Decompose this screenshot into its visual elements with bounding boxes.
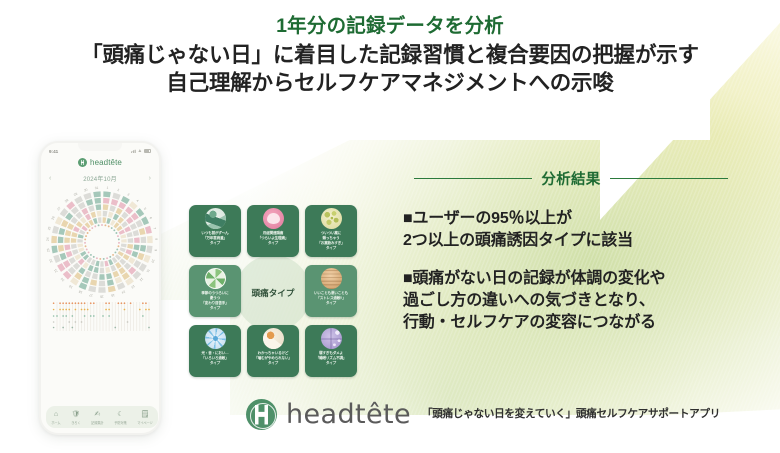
app-name-label: headtête (90, 158, 122, 167)
tab-record-label: きろく (71, 420, 80, 425)
divider-left (414, 178, 532, 180)
slide-header: 1年分の記録データを分析 「頭痛じゃない日」に着目した記録習慣と複合要因の把握が… (0, 0, 780, 98)
journal-icon: 🗒 (140, 411, 149, 419)
type-tile-medicine-overuse[interactable]: ついつい薬に 頼っちゃう 「お薬飲みすぎ」 タイプ (305, 205, 357, 257)
svg-text:3: 3 (127, 192, 131, 196)
svg-text:7: 7 (153, 227, 157, 230)
record-icon: 🛡 (71, 411, 80, 419)
menstrual-icon (263, 208, 284, 229)
svg-text:11: 11 (145, 268, 150, 273)
neck-shoulder-icon (205, 208, 226, 229)
brand-name-label: headtête (286, 399, 411, 430)
headtete-logo-icon (246, 399, 277, 430)
type-tile-label: ついつい薬に 頼っちゃう 「お薬飲みすぎ」 タイプ (316, 231, 346, 251)
tab-home[interactable]: ⌂ ホーム (51, 411, 60, 425)
phone-mockup: 9:41 ▲ headtête ‹ 2024年10月 › 12345678910… (39, 141, 161, 435)
header-line-3: 自己理解からセルフケアマネジメントへの示唆 (0, 69, 780, 97)
type-tile-label: いつも首がず～ん 「万年首肩重」 タイプ (200, 231, 230, 246)
svg-text:23: 23 (46, 248, 50, 252)
headache-type-center-label: 頭痛タイプ (235, 255, 311, 331)
header-line-2: 「頭痛じゃない日」に着目した記録習慣と複合要因の把握が示す (0, 41, 780, 69)
svg-text:5: 5 (143, 207, 147, 211)
svg-text:26: 26 (51, 215, 56, 220)
svg-text:19: 19 (68, 284, 73, 289)
headache-type-grid: 頭痛タイプ いつも首がず～ん 「万年首肩重」 タイプ 月経関連頭痛 「つらいよ生… (189, 205, 357, 381)
brand-tagline: 「頭痛じゃない日を変えていく」頭痛セルフケアサポートアプリ (422, 406, 720, 423)
svg-text:17: 17 (89, 293, 94, 298)
light-sound-smell-icon (205, 328, 226, 349)
wifi-icon: ▲ (137, 149, 142, 153)
tab-prevention-label: 予防対策 (114, 420, 126, 425)
svg-text:30: 30 (83, 188, 88, 193)
home-icon: ⌂ (54, 411, 58, 419)
analysis-icon: ✍ (94, 411, 100, 419)
type-tile-label: いいことも悪いことも 「ストレス過敏!!」 タイプ (313, 291, 350, 306)
svg-text:13: 13 (130, 284, 135, 289)
header-eyebrow: 1年分の記録データを分析 (0, 0, 780, 38)
svg-text:4: 4 (135, 199, 139, 203)
svg-text:24: 24 (46, 237, 50, 241)
svg-text:31: 31 (95, 186, 99, 190)
tab-home-label: ホーム (51, 420, 60, 425)
svg-text:14: 14 (121, 289, 126, 294)
type-tile-label: 光・音・におい… 「いろいろ過敏」 タイプ (200, 351, 230, 366)
analysis-panel-title: 分析結果 (541, 168, 600, 189)
tab-mypage-label: マイページ (137, 420, 152, 425)
svg-text:29: 29 (73, 192, 78, 197)
type-tile-label: 寝すぎもダメよ 「睡眠リズム不調」 タイプ (314, 351, 348, 366)
type-tile-sensory[interactable]: 光・音・におい… 「いろいろ過敏」 タイプ (189, 325, 241, 377)
circular-calendar-svg: 1234567891011121314151617181920212223242… (46, 186, 158, 298)
type-tile-menstrual[interactable]: 月経関連頭痛 「つらいよ生理痛」 タイプ (247, 205, 299, 257)
type-tile-sleep-rhythm[interactable]: 寝すぎもダメよ 「睡眠リズム不調」 タイプ (305, 325, 357, 377)
divider-right (610, 178, 728, 180)
analysis-bullet-list: ■ユーザーの95％以上が 2つ以上の頭痛誘因タイプに該当 ■頭痛がない日の記録が… (372, 208, 776, 334)
svg-text:28: 28 (64, 198, 69, 203)
svg-text:21: 21 (53, 268, 58, 273)
analysis-results-panel: 分析結果 ■ユーザーの95％以上が 2つ以上の頭痛誘因タイプに該当 ■頭痛がない… (372, 168, 776, 334)
svg-text:20: 20 (60, 277, 65, 282)
svg-text:15: 15 (111, 293, 116, 298)
analysis-panel-header: 分析結果 (366, 168, 776, 189)
daily-dot-chart[interactable] (52, 300, 152, 336)
type-tile-neck-shoulder[interactable]: いつも首がず～ん 「万年首肩重」 タイプ (189, 205, 241, 257)
moon-icon: ☾ (117, 411, 123, 419)
tab-record[interactable]: 🛡 きろく (71, 411, 80, 425)
app-header: headtête (41, 158, 159, 167)
tab-prevention[interactable]: ☾ 予防対策 (114, 411, 126, 425)
tab-analysis[interactable]: ✍ 記録集計 (91, 411, 103, 425)
signal-icon (131, 149, 136, 153)
battery-icon (144, 149, 151, 153)
analysis-bullet: ■頭痛がない日の記録が体調の変化や 過ごし方の違いへの気づきとなり、 行動・セル… (403, 268, 776, 334)
svg-text:27: 27 (56, 206, 61, 211)
svg-text:8: 8 (154, 238, 158, 240)
season-change-icon (205, 268, 226, 289)
app-logo-icon (78, 158, 87, 167)
medicine-icon (321, 208, 342, 229)
svg-text:9: 9 (154, 249, 158, 252)
circular-calendar-chart[interactable]: 1234567891011121314151617181920212223242… (46, 186, 158, 298)
phone-status-bar: 9:41 ▲ (41, 146, 159, 156)
svg-text:16: 16 (100, 294, 104, 298)
type-tile-label: わかっちゃいるけど 「噛むがやめられない」 タイプ (253, 351, 293, 366)
status-time: 9:41 (49, 149, 58, 154)
chevron-left-icon[interactable]: ‹ (49, 175, 51, 182)
footer-brand: headtête 「頭痛じゃない日を変えていく」頭痛セルフケアサポートアプリ (246, 399, 720, 430)
month-label: 2024年10月 (83, 174, 117, 183)
habit-icon (263, 328, 284, 349)
svg-text:1: 1 (106, 186, 108, 190)
type-tile-season-change[interactable]: 季節のうつろいに 憂うつ 「変わり目苦手」 タイプ (189, 265, 241, 317)
analysis-bullet: ■ユーザーの95％以上が 2つ以上の頭痛誘因タイプに該当 (403, 208, 776, 252)
svg-text:10: 10 (150, 259, 155, 264)
type-tile-label: 月経関連頭痛 「つらいよ生理痛」 タイプ (256, 231, 290, 246)
slide-canvas: 1年分の記録データを分析 「頭痛じゃない日」に着目した記録習慣と複合要因の把握が… (0, 0, 780, 453)
stress-icon (321, 268, 342, 289)
svg-text:18: 18 (78, 289, 83, 294)
center-label-text: 頭痛タイプ (252, 287, 295, 299)
svg-text:6: 6 (149, 216, 153, 220)
chevron-right-icon[interactable]: › (149, 175, 151, 182)
status-indicators: ▲ (131, 149, 151, 153)
tab-mypage[interactable]: 🗒 マイページ (137, 411, 152, 425)
sleep-rhythm-icon (321, 328, 342, 349)
svg-text:2: 2 (117, 188, 120, 192)
svg-text:25: 25 (47, 226, 52, 231)
svg-text:22: 22 (48, 258, 53, 263)
dot-chart-svg (52, 300, 152, 336)
phone-tab-bar[interactable]: ⌂ ホーム 🛡 きろく ✍ 記録集計 ☾ 予防対策 🗒 マイページ (46, 406, 158, 428)
tab-analysis-label: 記録集計 (91, 420, 103, 425)
type-tile-habit[interactable]: わかっちゃいるけど 「噛むがやめられない」 タイプ (247, 325, 299, 377)
svg-text:12: 12 (139, 277, 144, 282)
month-navigator: ‹ 2024年10月 › (41, 174, 159, 183)
type-tile-stress[interactable]: いいことも悪いことも 「ストレス過敏!!」 タイプ (305, 265, 357, 317)
type-tile-label: 季節のうつろいに 憂うつ 「変わり目苦手」 タイプ (200, 291, 230, 311)
